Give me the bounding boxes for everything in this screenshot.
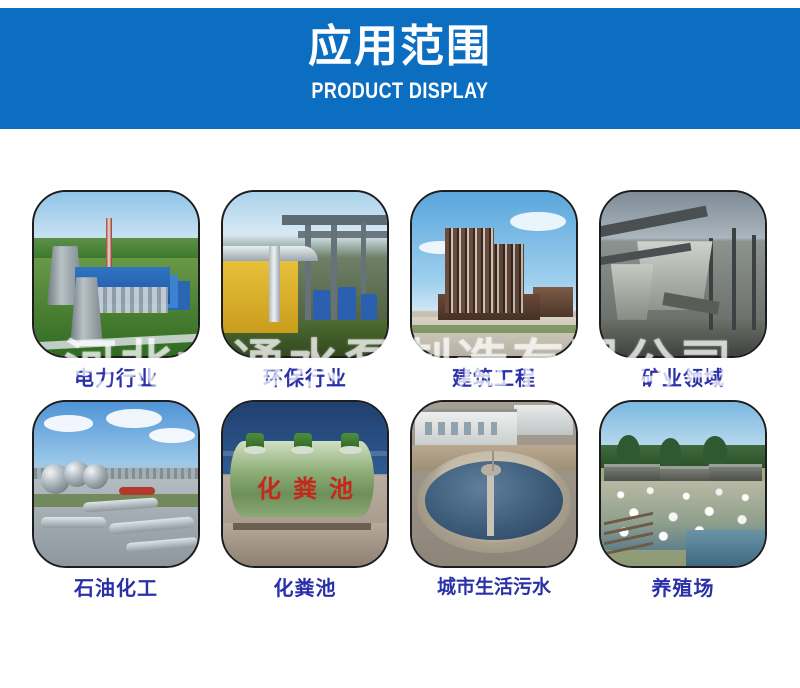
- tank-painted-text: 化粪池: [223, 469, 387, 504]
- page-header-banner: 应用范围 PRODUCT DISPLAY: [0, 8, 800, 129]
- application-card-petrochemical[interactable]: 石油化工: [32, 400, 200, 598]
- environmental-plant-image: [223, 192, 387, 356]
- card-label: 矿业领域: [641, 368, 725, 388]
- card-thumbnail[interactable]: [32, 400, 200, 568]
- power-plant-image: [34, 192, 198, 356]
- application-card-construction[interactable]: 建筑工程: [410, 190, 578, 388]
- page-title: 应用范围: [308, 24, 492, 70]
- card-label: 电力行业: [74, 368, 158, 388]
- mining-equipment-image: [601, 192, 765, 356]
- application-card-municipal-sewage[interactable]: 城市生活污水: [410, 400, 578, 598]
- card-thumbnail[interactable]: 化粪池: [221, 400, 389, 568]
- card-label: 城市生活污水: [437, 578, 551, 597]
- application-card-power[interactable]: 电力行业: [32, 190, 200, 388]
- sewage-clarifier-image: [412, 402, 576, 566]
- application-scope-grid: 电力行业 环保行业: [32, 190, 768, 598]
- petrochemical-refinery-image: [34, 402, 198, 566]
- card-label: 石油化工: [74, 578, 158, 598]
- septic-tank-image: 化粪池: [223, 402, 387, 566]
- card-thumbnail[interactable]: [599, 190, 767, 358]
- duck-breeding-farm-image: [601, 402, 765, 566]
- card-label: 化粪池: [274, 578, 337, 598]
- page-subtitle: PRODUCT DISPLAY: [312, 78, 489, 104]
- card-label: 环保行业: [263, 368, 347, 388]
- card-thumbnail[interactable]: [599, 400, 767, 568]
- card-thumbnail[interactable]: [221, 190, 389, 358]
- application-card-breeding-farm[interactable]: 养殖场: [599, 400, 767, 598]
- card-thumbnail[interactable]: [410, 190, 578, 358]
- card-label: 养殖场: [652, 578, 715, 598]
- application-card-septic-tank[interactable]: 化粪池 化粪池: [221, 400, 389, 598]
- card-thumbnail[interactable]: [410, 400, 578, 568]
- application-card-mining[interactable]: 矿业领域: [599, 190, 767, 388]
- construction-building-image: [412, 192, 576, 356]
- card-label: 建筑工程: [452, 368, 536, 388]
- application-card-environmental[interactable]: 环保行业: [221, 190, 389, 388]
- card-thumbnail[interactable]: [32, 190, 200, 358]
